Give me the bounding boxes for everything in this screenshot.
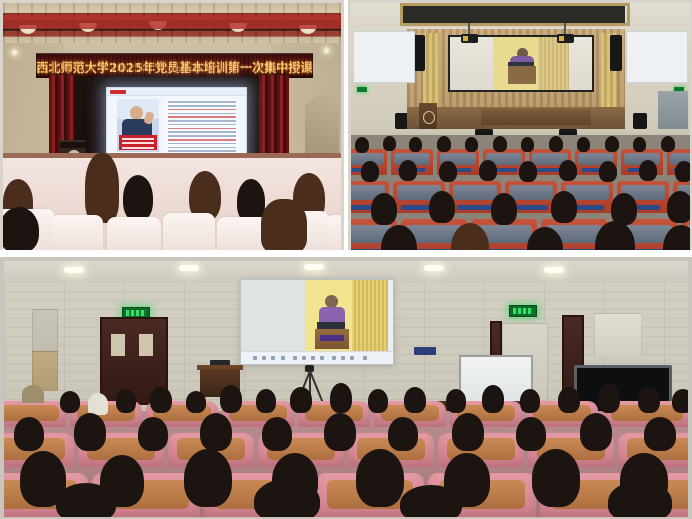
ceiling-beam [403, 6, 625, 23]
audience-head-nearest [608, 481, 672, 517]
audience-head [138, 417, 168, 451]
audience-head [200, 413, 232, 451]
audience-head-white-cap [88, 393, 108, 415]
audience-head [551, 191, 577, 223]
audience-head [633, 137, 646, 152]
ceiling-light [304, 264, 324, 270]
audience-head [262, 417, 292, 451]
side-screen-left [353, 31, 415, 83]
audience-head [220, 385, 242, 413]
ceiling-light [64, 267, 84, 273]
audience-head-nearest [400, 485, 462, 517]
lectern-nameplate [60, 142, 86, 148]
audience-head [559, 160, 577, 181]
audience-head [256, 389, 276, 413]
audience-head [519, 161, 537, 182]
audience-head [355, 137, 369, 153]
audience-head-nearest [254, 479, 320, 517]
audience-head [452, 413, 484, 451]
screen-curtain-stripes [538, 37, 569, 90]
slide-speaker-photo [117, 99, 159, 152]
audience-head [14, 417, 44, 451]
projector [461, 34, 478, 43]
audience-head [368, 389, 388, 413]
projector [557, 34, 574, 43]
ceiling-light [179, 265, 199, 271]
audience-head [324, 413, 356, 451]
audience-head-nearest [56, 483, 116, 517]
wall-speaker-right [633, 113, 647, 129]
screen-room-wall [241, 280, 305, 352]
audience-head-foreground [123, 175, 153, 221]
audience-head [429, 191, 455, 223]
slide-red-banner [119, 135, 157, 150]
audience-head [672, 389, 688, 413]
audience-head [521, 137, 534, 152]
audience-head [491, 193, 517, 225]
photo-collage: 西北师范大学2025年党员基本培训第一次集中授课 [0, 0, 692, 519]
audience-head [290, 387, 312, 413]
audience-head [439, 161, 457, 182]
audience-head [482, 385, 504, 413]
audience-head-foreground [261, 199, 307, 250]
audience-head [409, 137, 422, 152]
wall-flipchart [594, 313, 642, 357]
seat-cover [325, 215, 341, 250]
audience-head [388, 417, 418, 451]
audience-head [558, 387, 580, 413]
audience-head-with-cap [22, 385, 44, 403]
slide-body-text [165, 99, 239, 153]
audience-head [493, 136, 507, 152]
audience-head [639, 160, 657, 181]
screen-curtain-stripes [352, 280, 388, 352]
photo-bottom-classroom [0, 257, 692, 519]
audience-head-foreground [85, 153, 119, 223]
university-emblem [423, 111, 435, 124]
audience-head-foreground [184, 449, 232, 507]
audience-head [577, 137, 590, 152]
projection-screen [106, 87, 247, 163]
audience-head [74, 413, 106, 451]
audience-head [516, 417, 546, 451]
projection-screen [240, 279, 394, 365]
screen-taskbar [241, 351, 393, 364]
slide-logo [110, 90, 126, 94]
audience-head [371, 193, 397, 225]
exit-sign-left [357, 87, 367, 92]
led-banner-text: 西北师范大学2025年党员基本培训第一次集中授课 [36, 57, 312, 76]
screen-lectern [315, 329, 349, 349]
audience-head [446, 389, 466, 413]
audience-head [598, 383, 620, 413]
audience-head [186, 391, 206, 413]
ceiling-light [544, 267, 564, 273]
photo-top-left-auditorium: 西北师范大学2025年党员基本培训第一次集中授课 [0, 0, 344, 250]
audience-head [644, 417, 676, 451]
audience-head [361, 161, 379, 182]
slide-speaker-arm [143, 111, 154, 125]
slide-speaker-head [130, 106, 143, 120]
photo-1-scene: 西北师范大学2025年党员基本培训第一次集中授课 [3, 3, 341, 250]
audience-head [479, 160, 497, 181]
audience-head [399, 160, 417, 181]
audience-head [675, 161, 690, 182]
audience-head [605, 136, 619, 152]
audience-head [404, 387, 426, 413]
audience-head [667, 191, 690, 223]
photo-2-scene [351, 3, 690, 250]
slide-header [107, 88, 246, 96]
audience-head [116, 389, 136, 413]
downlight [11, 49, 18, 56]
audience-head [437, 136, 451, 152]
ceiling-light [424, 265, 444, 271]
audience-head [580, 413, 612, 451]
seat-row-accent [3, 15, 341, 29]
audience-head [549, 136, 563, 152]
screen-lectern [508, 66, 536, 84]
speaker-box-right [610, 35, 622, 71]
seat-cover [51, 215, 103, 250]
audience-head [599, 161, 617, 182]
stage-front-panel [481, 109, 591, 125]
main-projection-screen [448, 35, 594, 92]
audience-head-foreground [532, 449, 580, 507]
wall-sign-plate [414, 347, 436, 355]
audience-head [465, 137, 478, 152]
audience-head [383, 136, 396, 151]
exit-sign-right [509, 305, 537, 317]
audience-head [520, 389, 540, 413]
audience-head-foreground [356, 449, 404, 507]
audience-head-foreground [3, 207, 39, 250]
seat-cover [107, 217, 161, 250]
audience-head [330, 383, 352, 413]
audience-head [150, 387, 172, 413]
seat-cover [163, 213, 215, 250]
audience-head [638, 387, 660, 413]
photo-3-scene [4, 261, 688, 517]
side-screen-right [626, 31, 688, 83]
photo-top-right-lecture-hall [348, 0, 692, 250]
audience-head [60, 391, 80, 413]
downlight [323, 47, 330, 54]
audience-head [661, 136, 675, 152]
